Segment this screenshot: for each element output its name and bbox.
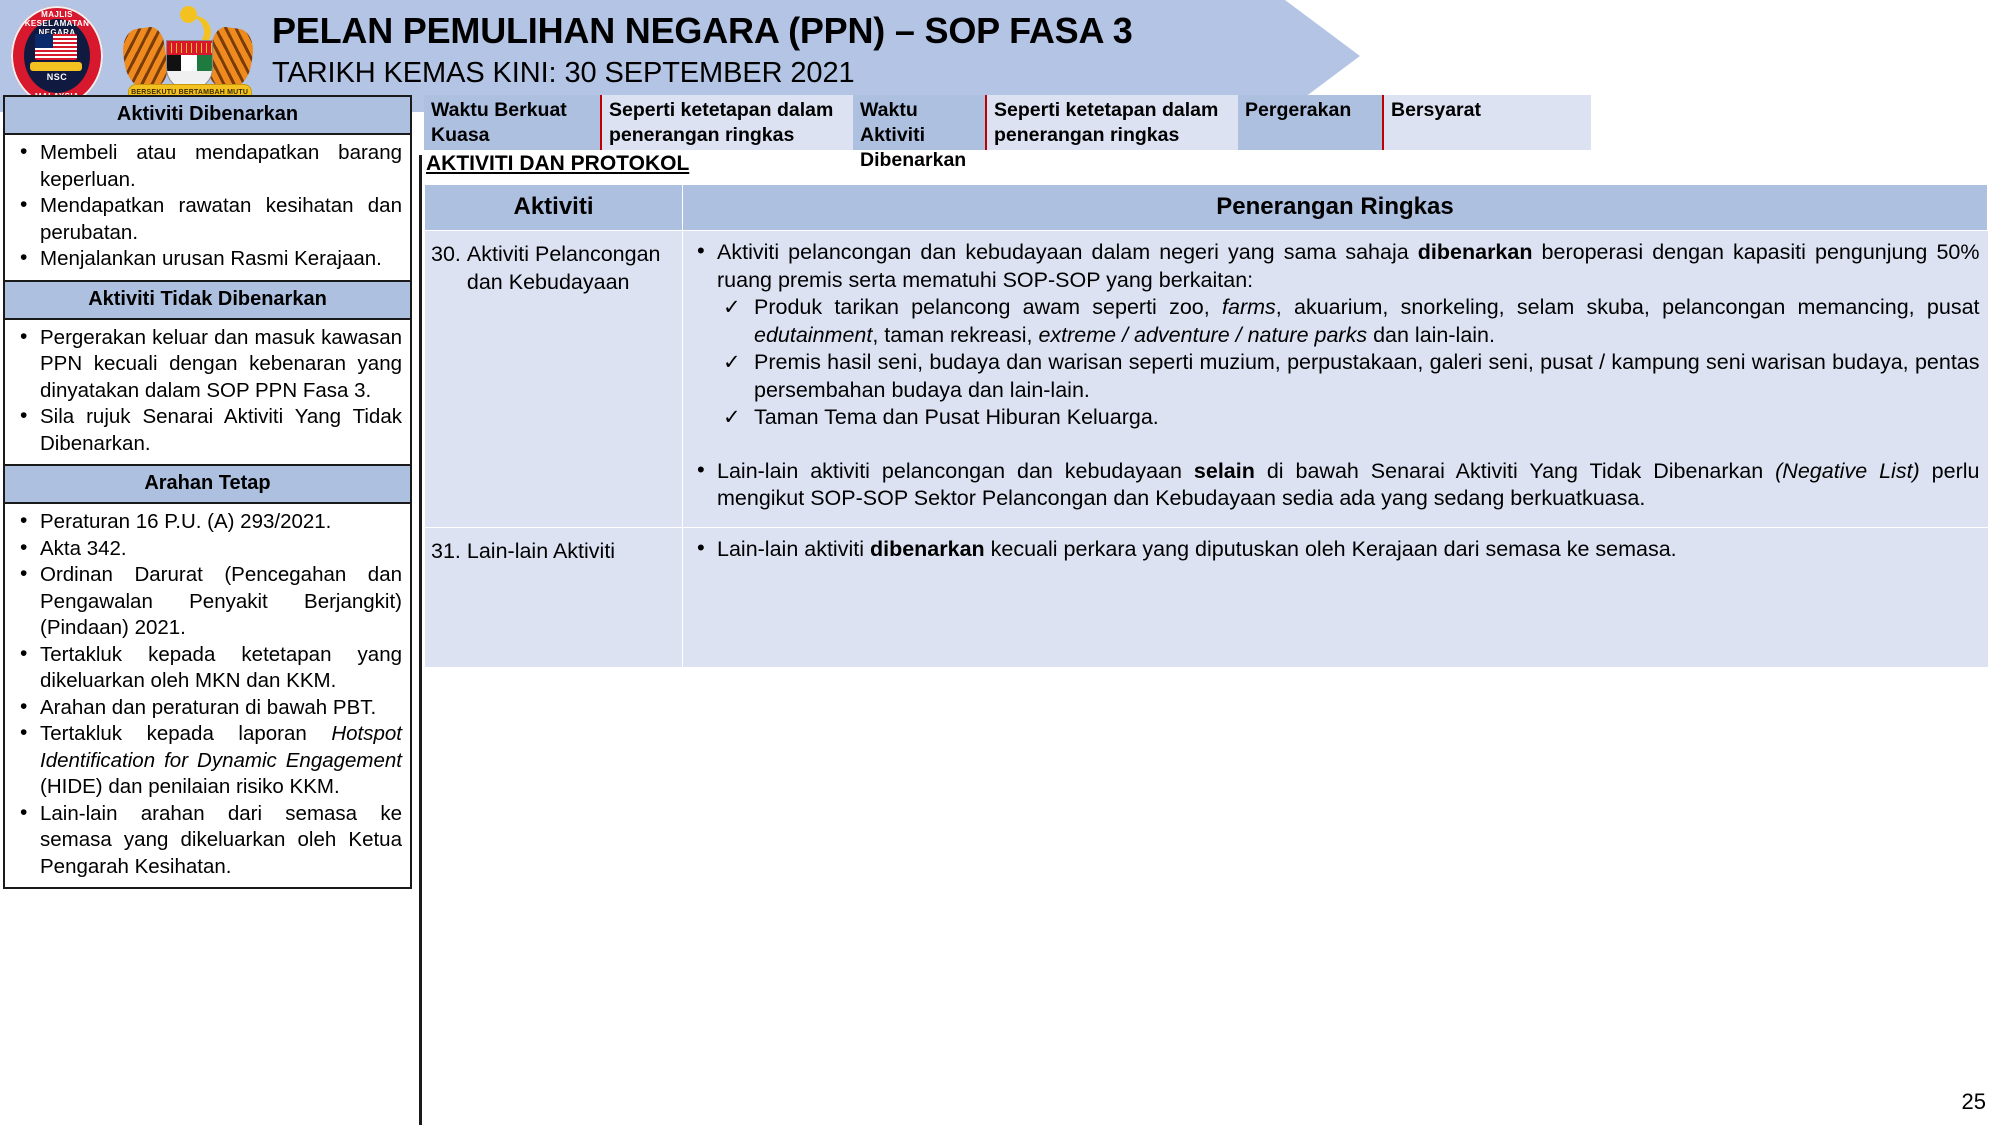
header-text-block: PELAN PEMULIHAN NEGARA (PPN) – SOP FASA … (272, 8, 1272, 92)
activity-label: Lain-lain Aktiviti (467, 537, 672, 565)
status-cell-waktu-berkuat-kuasa: Waktu Berkuat Kuasa (424, 95, 600, 150)
nsc-emblem-icon: MAJLIS KESELAMATAN NEGARA NSC MALAYSIA (8, 4, 106, 108)
column-header-penerangan-ringkas: Penerangan Ringkas (683, 185, 1988, 231)
status-cell-waktu-aktiviti-dibenarkan: Waktu Aktiviti Dibenarkan (853, 95, 985, 150)
page-subtitle: TARIKH KEMAS KINI: 30 SEPTEMBER 2021 (272, 54, 1272, 92)
nsc-emblem-top-text: MAJLIS KESELAMATAN NEGARA (8, 10, 106, 37)
description-bullet: Lain-lain aktiviti pelancongan dan kebud… (691, 458, 1980, 513)
page-title: PELAN PEMULIHAN NEGARA (PPN) – SOP FASA … (272, 8, 1272, 54)
list-item: Menjalankan urusan Rasmi Kerajaan. (13, 246, 402, 273)
nsc-emblem-center-text: NSC (8, 72, 106, 82)
logo-strip: MAJLIS KESELAMATAN NEGARA NSC MALAYSIA B… (8, 4, 263, 108)
status-cell-pergerakan-value: Bersyarat (1384, 95, 1591, 150)
column-header-aktiviti: Aktiviti (425, 185, 683, 231)
list-item: Membeli atau mendapatkan barang keperlua… (13, 140, 402, 193)
panel-body: Peraturan 16 P.U. (A) 293/2021. Akta 342… (5, 504, 410, 887)
panel-title: Arahan Tetap (5, 466, 410, 504)
malaysia-coat-of-arms-icon: BERSEKUTU BERTAMBAH MUTU (112, 4, 263, 108)
bullet-text: Aktiviti pelancongan dan kebudayaan dala… (717, 240, 1979, 292)
status-strip: Waktu Berkuat Kuasa Seperti ketetapan da… (424, 95, 1591, 150)
panel-aktiviti-dibenarkan: Aktiviti Dibenarkan Membeli atau mendapa… (3, 95, 412, 280)
description-cell: Aktiviti pelancongan dan kebudayaan dala… (683, 231, 1988, 528)
activity-cell: 30. Aktiviti Pelancongan dan Kebudayaan (425, 231, 683, 528)
panel-arahan-tetap: Arahan Tetap Peraturan 16 P.U. (A) 293/2… (3, 464, 412, 889)
table-row: 30. Aktiviti Pelancongan dan Kebudayaan … (425, 231, 1988, 528)
sidebar: Aktiviti Dibenarkan Membeli atau mendapa… (3, 95, 412, 889)
description-bullet: Aktiviti pelancongan dan kebudayaan dala… (691, 239, 1980, 432)
list-item: Arahan dan peraturan di bawah PBT. (13, 695, 402, 722)
panel-title: Aktiviti Dibenarkan (5, 97, 410, 135)
activity-number: 30. (431, 240, 461, 296)
activity-number: 31. (431, 537, 461, 565)
status-cell-waktu-aktiviti-dibenarkan-value: Seperti ketetapan dalam penerangan ringk… (987, 95, 1238, 150)
activity-protocol-table: Aktiviti Penerangan Ringkas 30. Aktiviti… (424, 184, 1988, 668)
check-item: Taman Tema dan Pusat Hiburan Keluarga. (717, 404, 1980, 432)
table-row: 31. Lain-lain Aktiviti Lain-lain aktivit… (425, 527, 1988, 667)
list-item: Akta 342. (13, 536, 402, 563)
activity-cell: 31. Lain-lain Aktiviti (425, 527, 683, 667)
check-item: Premis hasil seni, budaya dan warisan se… (717, 349, 1980, 404)
list-item: Mendapatkan rawatan kesihatan dan peruba… (13, 193, 402, 246)
list-item: Tertakluk kepada laporan Hotspot Identif… (13, 721, 402, 801)
panel-title: Aktiviti Tidak Dibenarkan (5, 282, 410, 320)
vertical-divider (419, 155, 422, 1125)
panel-aktiviti-tidak-dibenarkan: Aktiviti Tidak Dibenarkan Pergerakan kel… (3, 280, 412, 465)
description-bullet: Lain-lain aktiviti dibenarkan kecuali pe… (691, 536, 1980, 564)
panel-body: Membeli atau mendapatkan barang keperlua… (5, 135, 410, 280)
list-item: Sila rujuk Senarai Aktiviti Yang Tidak D… (13, 404, 402, 457)
panel-body: Pergerakan keluar dan masuk kawasan PPN … (5, 320, 410, 465)
list-item: Pergerakan keluar dan masuk kawasan PPN … (13, 325, 402, 405)
check-item: Produk tarikan pelancong awam seperti zo… (717, 294, 1980, 349)
description-cell: Lain-lain aktiviti dibenarkan kecuali pe… (683, 527, 1988, 667)
list-item: Ordinan Darurat (Pencegahan dan Pengawal… (13, 562, 402, 642)
list-item: Tertakluk kepada ketetapan yang dikeluar… (13, 642, 402, 695)
status-cell-pergerakan: Pergerakan (1238, 95, 1382, 150)
list-item: Lain-lain arahan dari semasa ke semasa y… (13, 801, 402, 881)
list-item: Peraturan 16 P.U. (A) 293/2021. (13, 509, 402, 536)
status-cell-waktu-berkuat-kuasa-value: Seperti ketetapan dalam penerangan ringk… (602, 95, 853, 150)
checklist: Produk tarikan pelancong awam seperti zo… (717, 294, 1980, 432)
table-header-row: Aktiviti Penerangan Ringkas (425, 185, 1988, 231)
page-number: 25 (1962, 1089, 1986, 1115)
section-label: AKTIVITI DAN PROTOKOL (426, 152, 689, 176)
activity-label: Aktiviti Pelancongan dan Kebudayaan (467, 240, 672, 296)
